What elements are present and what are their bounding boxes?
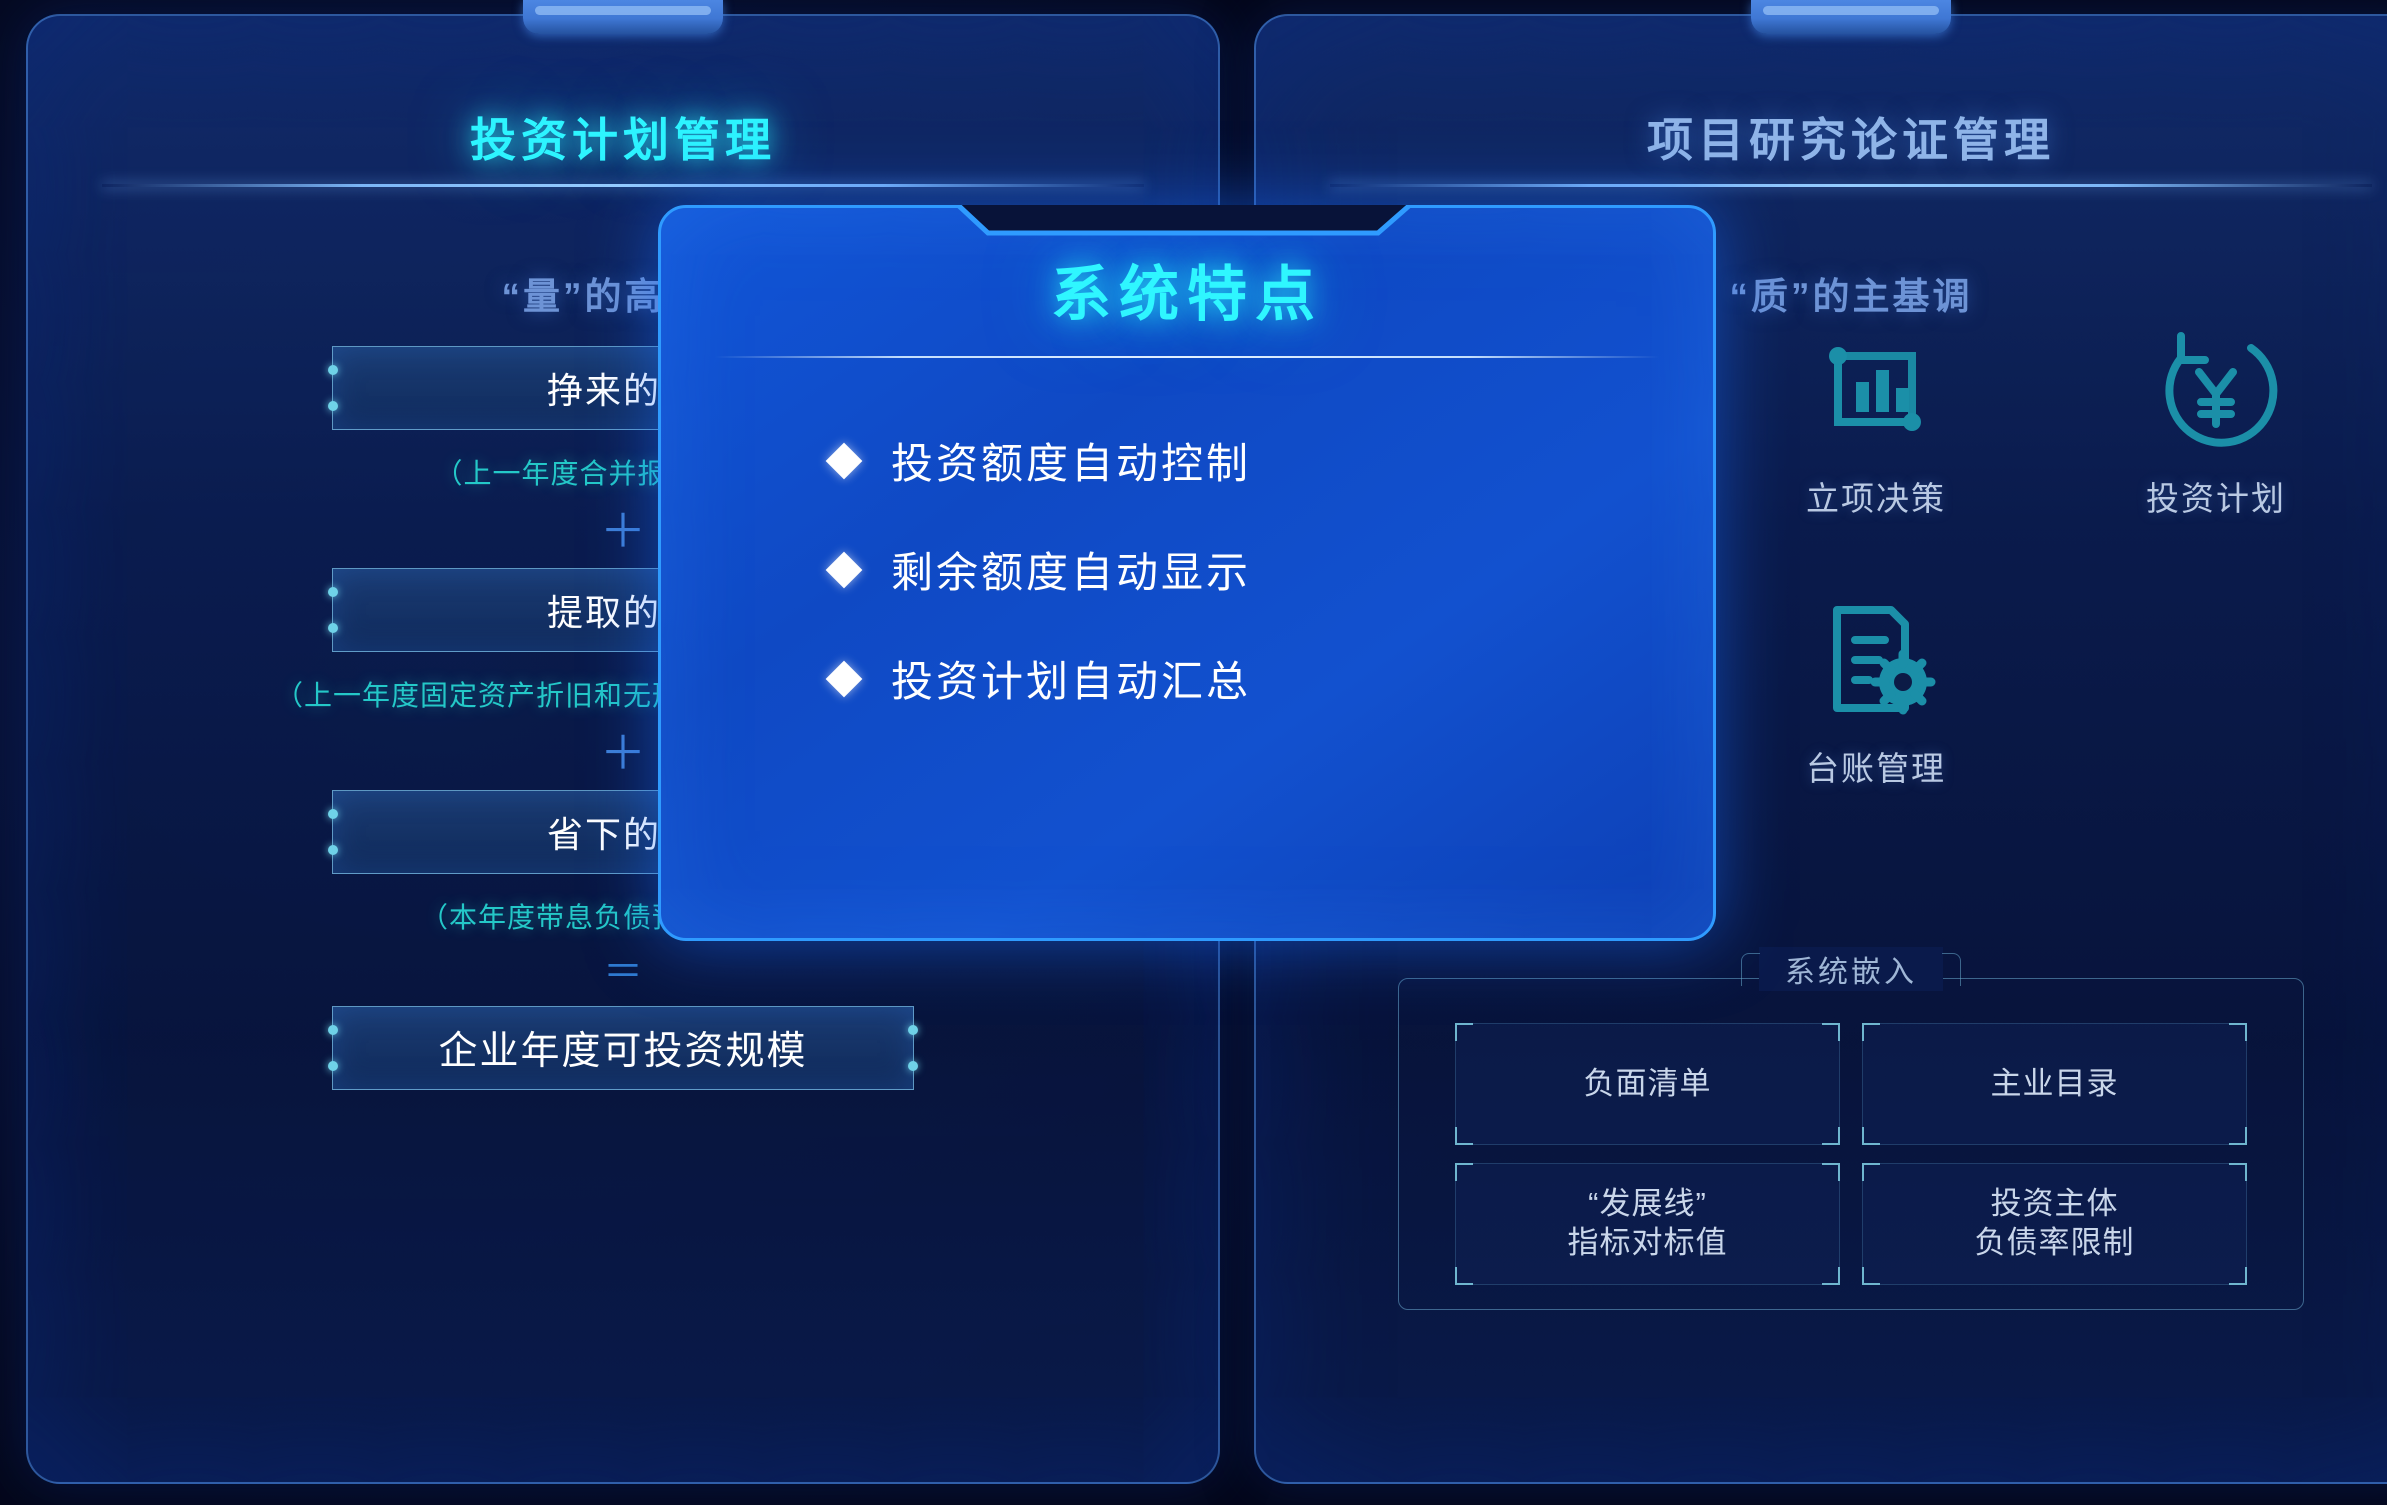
left-panel-notch: [523, 0, 723, 34]
diamond-bullet-icon: [826, 551, 863, 588]
right-panel-notch: [1751, 0, 1951, 34]
list-item: 剩余额度自动显示: [831, 539, 1653, 600]
node-dot: [908, 1061, 918, 1071]
node-dot: [328, 1025, 338, 1035]
system-features-modal: 系统特点 投资额度自动控制 剩余额度自动显示 投资计划自动汇总: [658, 205, 1716, 941]
left-title-divider: [102, 184, 1144, 187]
list-item: 投资计划自动汇总: [831, 648, 1653, 709]
bar-chart-icon: [1706, 316, 2046, 466]
embed-chip-main-business-catalog[interactable]: 主业目录: [1862, 1023, 2247, 1145]
flow-operator-equals: ＝: [28, 952, 1218, 992]
flow-box-result: 企业年度可投资规模: [332, 1006, 914, 1090]
system-embed-legend: 系统嵌入: [1759, 947, 1943, 991]
modal-title: 系统特点: [661, 246, 1713, 333]
left-panel-title: 投资计划管理: [28, 104, 1218, 170]
chip-edge: [1455, 1163, 1840, 1285]
modal-title-divider: [715, 356, 1659, 358]
icon-cell-spacer: [2046, 586, 2386, 790]
node-dot: [328, 809, 338, 819]
diamond-bullet-icon: [826, 660, 863, 697]
capability-project-decision[interactable]: 立项决策: [1706, 316, 2046, 520]
capability-investment-plan[interactable]: 投资计划: [2046, 316, 2386, 520]
capability-label: 台账管理: [1706, 742, 2046, 790]
capability-ledger-management[interactable]: 台账管理: [1706, 586, 2046, 790]
list-item: 投资额度自动控制: [831, 430, 1653, 491]
feature-label: 剩余额度自动显示: [891, 539, 1251, 600]
ledger-gear-icon: [1706, 586, 2046, 736]
node-dot: [328, 1061, 338, 1071]
system-embed-group: 系统嵌入 负面清单 主业目录 “发展线” 指标对标值 投资主体 负债率限制: [1398, 978, 2304, 1310]
right-title-divider: [1330, 184, 2372, 187]
modal-feature-list: 投资额度自动控制 剩余额度自动显示 投资计划自动汇总: [831, 430, 1653, 757]
chip-edge: [1455, 1023, 1840, 1145]
node-dot: [328, 401, 338, 411]
node-dot: [328, 623, 338, 633]
node-dot: [328, 587, 338, 597]
embed-chip-debt-ratio-limit[interactable]: 投资主体 负债率限制: [1862, 1163, 2247, 1285]
node-dot: [908, 1025, 918, 1035]
embed-chip-negative-list[interactable]: 负面清单: [1455, 1023, 1840, 1145]
embed-chip-development-line[interactable]: “发展线” 指标对标值: [1455, 1163, 1840, 1285]
capability-label: 投资计划: [2046, 472, 2386, 520]
system-embed-grid: 负面清单 主业目录 “发展线” 指标对标值 投资主体 负债率限制: [1455, 1023, 2247, 1285]
right-panel-title: 项目研究论证管理: [1256, 104, 2387, 170]
feature-label: 投资计划自动汇总: [891, 648, 1251, 709]
yuan-circle-icon: [2046, 316, 2386, 466]
capability-label: 立项决策: [1706, 472, 2046, 520]
node-dot: [328, 365, 338, 375]
feature-label: 投资额度自动控制: [891, 430, 1251, 491]
chip-edge: [1862, 1163, 2247, 1285]
diamond-bullet-icon: [826, 442, 863, 479]
flow-box-label: 企业年度可投资规模: [438, 1020, 807, 1076]
node-dot: [328, 845, 338, 855]
chip-edge: [1862, 1023, 2247, 1145]
